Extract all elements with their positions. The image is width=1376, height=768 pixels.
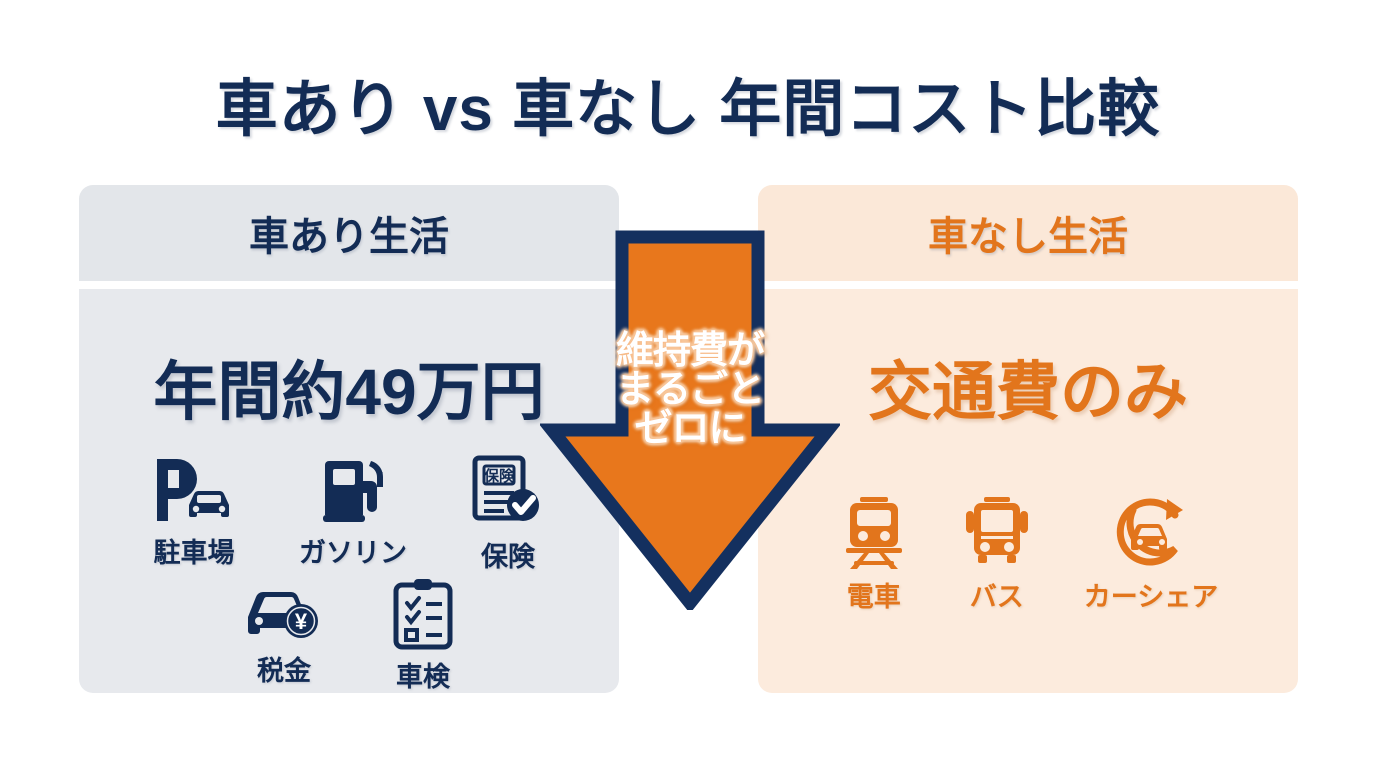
yen-symbol: ¥ <box>295 609 308 634</box>
inspection-clipboard-icon <box>390 577 456 651</box>
cost-item-gasoline: ガソリン <box>299 455 407 570</box>
car-cost-icons-row-2: ¥ 税金 車検 <box>79 577 619 694</box>
transport-item-bus: バス <box>958 495 1036 614</box>
left-panel-headline: 年間約49万円 <box>79 341 619 433</box>
infographic-canvas: 車あり vs 車なし 年間コスト比較 車あり生活 年間約49万円 駐車場 <box>0 0 1376 768</box>
transport-item-bus-label: バス <box>970 575 1024 614</box>
cost-item-gasoline-label: ガソリン <box>299 531 407 570</box>
left-panel-header: 車あり生活 <box>79 185 619 281</box>
transport-item-train-label: 電車 <box>847 575 901 614</box>
insurance-document-icon: 保険 <box>469 455 547 531</box>
parking-car-icon <box>151 455 237 527</box>
left-panel-body: 年間約49万円 駐車場 <box>79 289 619 693</box>
cost-item-tax-label: 税金 <box>257 649 311 688</box>
down-arrow-shape <box>540 230 840 610</box>
fuel-pump-icon <box>313 455 393 527</box>
transport-item-train: 電車 <box>838 495 910 614</box>
page-title: 車あり vs 車なし 年間コスト比較 <box>0 58 1376 148</box>
bus-icon <box>958 495 1036 571</box>
cost-item-parking-label: 駐車場 <box>154 531 235 570</box>
transport-item-carshare-label: カーシェア <box>1084 575 1218 614</box>
insurance-icon-inner-text: 保険 <box>483 467 515 485</box>
car-yen-icon: ¥ <box>242 577 326 645</box>
cost-item-parking: 駐車場 <box>151 455 237 570</box>
cost-item-inspection: 車検 <box>390 577 456 694</box>
savings-arrow: 維持費が まるごと ゼロに <box>540 230 840 610</box>
cost-item-tax: ¥ 税金 <box>242 577 326 688</box>
car-cost-icons-row-1: 駐車場 ガソリン 保険 <box>79 455 619 574</box>
train-icon <box>838 495 910 571</box>
cost-item-inspection-label: 車検 <box>396 655 450 694</box>
cost-item-insurance: 保険 保険 <box>469 455 547 574</box>
car-share-icon <box>1109 495 1193 571</box>
transport-item-carshare: カーシェア <box>1084 495 1218 614</box>
left-panel-header-label: 車あり生活 <box>249 204 449 262</box>
right-panel-header-label: 車なし生活 <box>928 204 1128 262</box>
cost-item-insurance-label: 保険 <box>481 535 535 574</box>
